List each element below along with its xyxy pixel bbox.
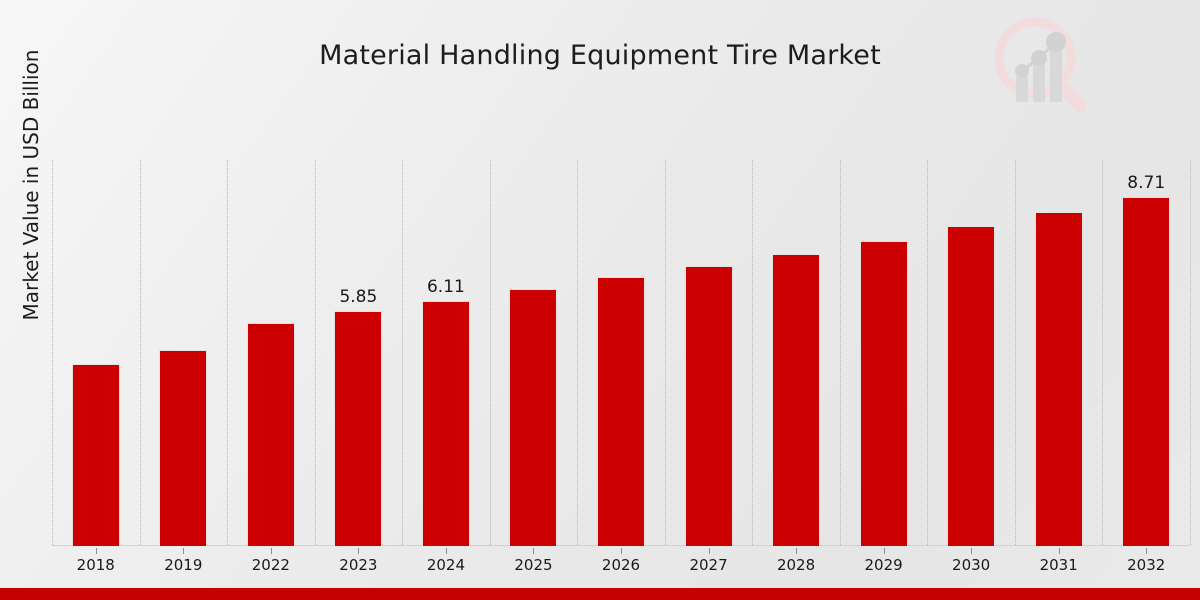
- x-tick-label: 2025: [514, 556, 552, 574]
- bar-slot: [140, 161, 228, 546]
- bar-slot: [1015, 161, 1103, 546]
- x-tick-label: 2026: [602, 556, 640, 574]
- bar[interactable]: [860, 241, 908, 546]
- x-tick-mark: [1146, 548, 1147, 554]
- bar-value-label: 5.85: [339, 287, 377, 307]
- x-tick-mark: [621, 548, 622, 554]
- x-tick-label: 2031: [1040, 556, 1078, 574]
- x-tick-label: 2022: [252, 556, 290, 574]
- chart-title: Material Handling Equipment Tire Market: [0, 40, 1200, 71]
- x-tick-mark: [183, 548, 184, 554]
- bar-slot: 6.11: [402, 161, 490, 546]
- bar[interactable]: [72, 364, 120, 546]
- bar-value-label: 6.11: [427, 277, 465, 297]
- bar[interactable]: [947, 226, 995, 546]
- bar-slot: 8.71: [1102, 161, 1190, 546]
- bar[interactable]: [422, 301, 470, 546]
- x-tick-label: 2018: [77, 556, 115, 574]
- bar-value-label: 8.71: [1127, 173, 1165, 193]
- x-tick-mark: [358, 548, 359, 554]
- bar-slot: [52, 161, 140, 546]
- y-axis-title: Market Value in USD Billion: [19, 5, 45, 365]
- x-tick-mark: [96, 548, 97, 554]
- x-tick-mark: [533, 548, 534, 554]
- bar-slot: [665, 161, 753, 546]
- x-tick-mark: [884, 548, 885, 554]
- x-tick-mark: [1059, 548, 1060, 554]
- bar[interactable]: [597, 277, 645, 547]
- footer-accent-strip: [0, 588, 1200, 600]
- bar[interactable]: [685, 266, 733, 546]
- x-tick-label: 2028: [777, 556, 815, 574]
- x-tick-label: 2024: [427, 556, 465, 574]
- bar[interactable]: [1122, 197, 1170, 546]
- bar-slot: 5.85: [315, 161, 403, 546]
- x-tick-mark: [796, 548, 797, 554]
- bar-slot: [490, 161, 578, 546]
- x-tick-label: 2029: [865, 556, 903, 574]
- x-tick-mark: [446, 548, 447, 554]
- x-tick-mark: [271, 548, 272, 554]
- x-tick-label: 2030: [952, 556, 990, 574]
- chart-canvas: Material Handling Equipment Tire Market …: [0, 0, 1200, 600]
- bar-slot: [577, 161, 665, 546]
- bar-slot: [227, 161, 315, 546]
- plot-area: 5.856.118.71: [52, 160, 1190, 546]
- bar[interactable]: [1035, 212, 1083, 546]
- x-tick-mark: [709, 548, 710, 554]
- x-tick-label: 2027: [689, 556, 727, 574]
- bar-slot: [927, 161, 1015, 546]
- bar-slot: [752, 161, 840, 546]
- x-tick-label: 2019: [164, 556, 202, 574]
- x-tick-label: 2023: [339, 556, 377, 574]
- bar[interactable]: [247, 323, 295, 546]
- bar[interactable]: [334, 311, 382, 546]
- x-tick-mark: [971, 548, 972, 554]
- bar[interactable]: [509, 289, 557, 546]
- gridline: [1190, 160, 1191, 545]
- x-tick-label: 2032: [1127, 556, 1165, 574]
- bar-slot: [840, 161, 928, 546]
- x-axis: 2018201920222023202420252026202720282029…: [52, 548, 1190, 574]
- bar[interactable]: [772, 254, 820, 546]
- bar[interactable]: [159, 350, 207, 547]
